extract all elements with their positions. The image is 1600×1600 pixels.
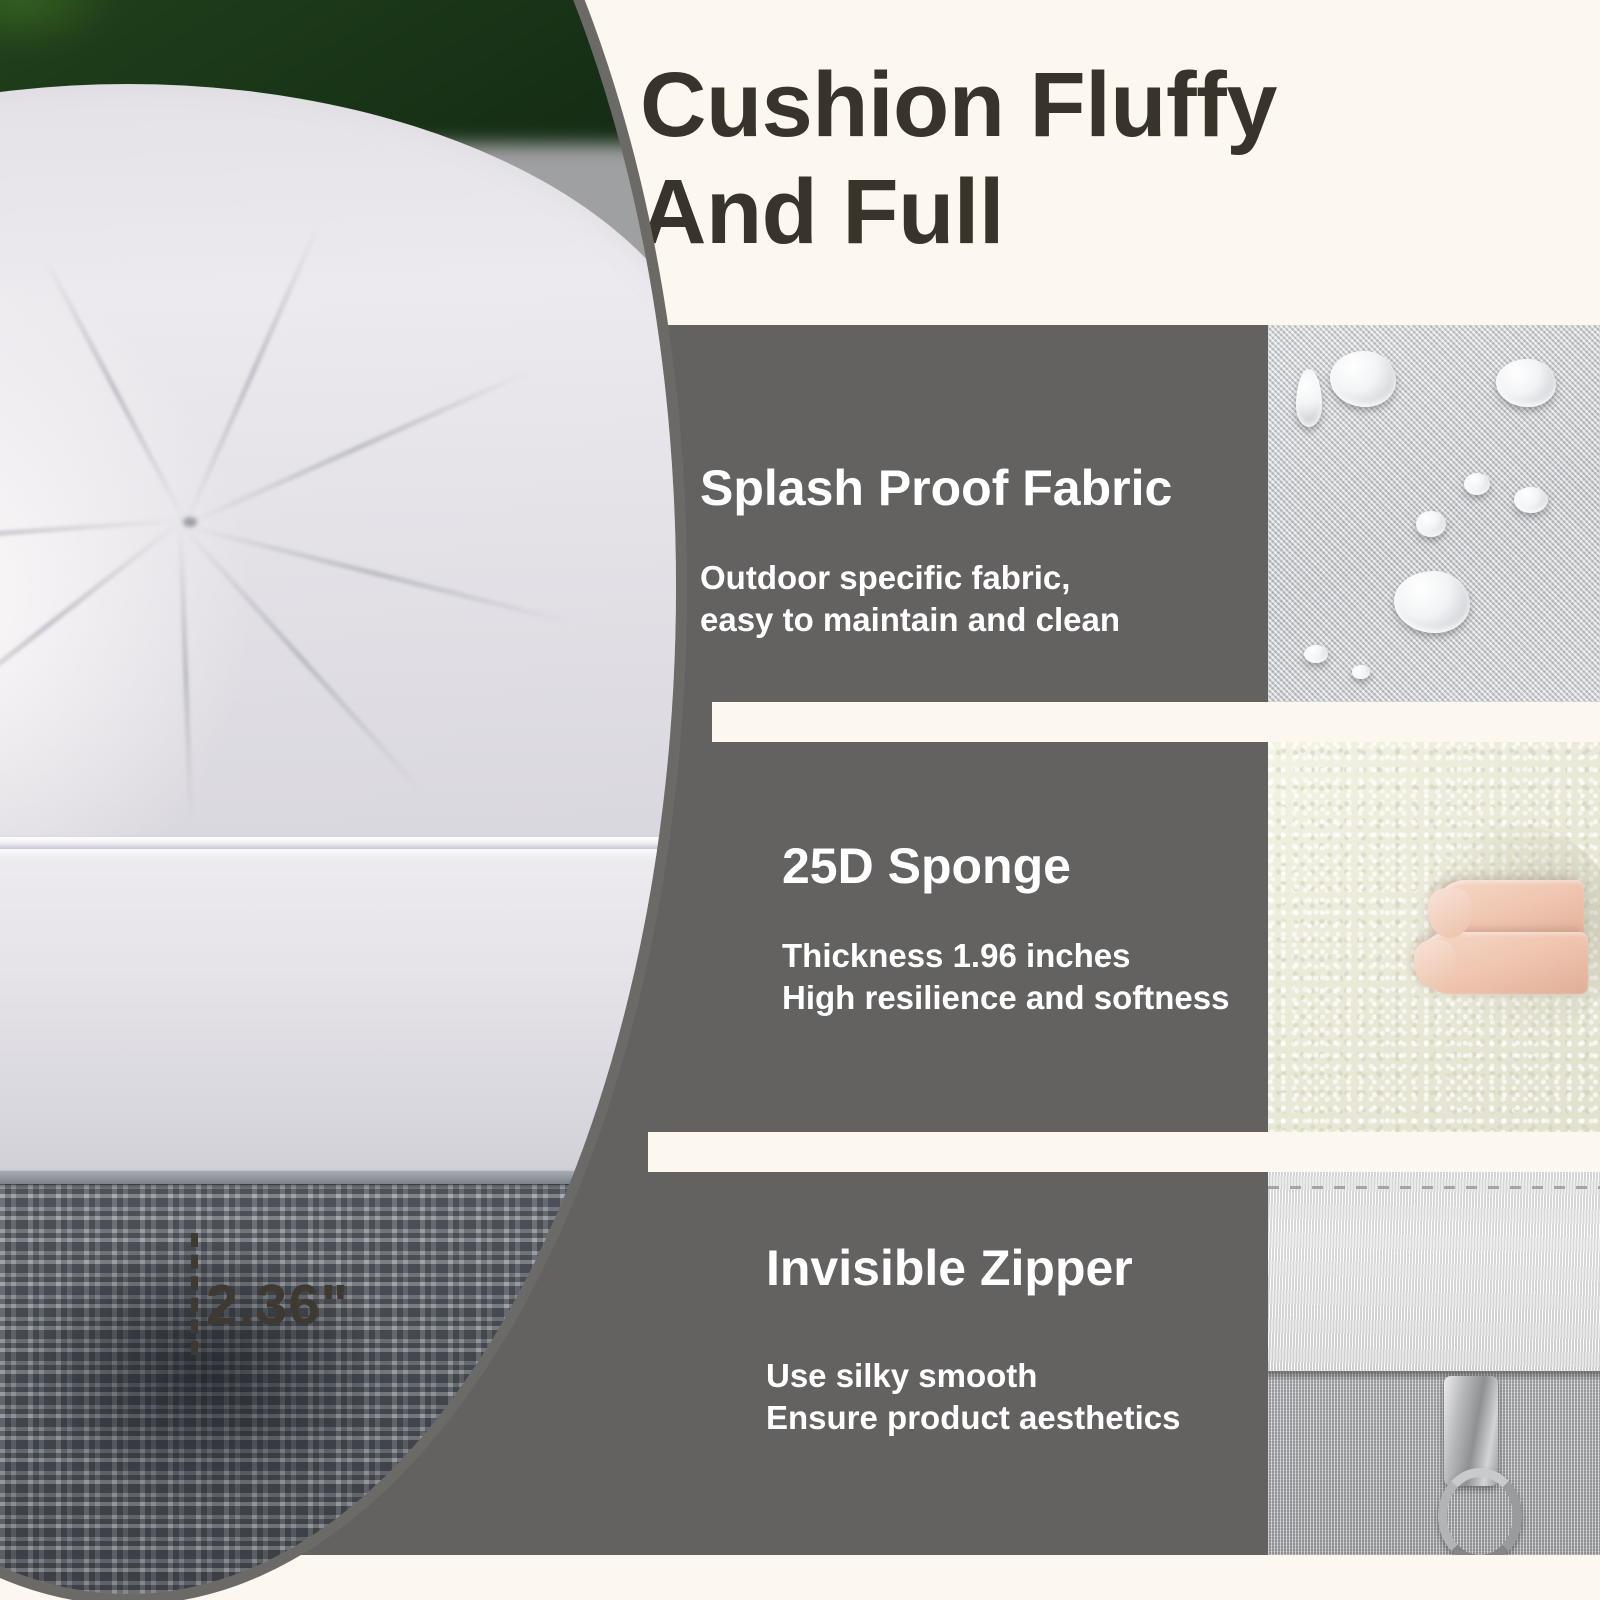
fabric-shadow-edge [1268, 1371, 1600, 1381]
stitch-line [1268, 1186, 1600, 1189]
feature-description-line-1: Use silky smooth [766, 1355, 1180, 1398]
water-droplet-icon [1304, 645, 1328, 663]
cushion-edge-fabric [1268, 1168, 1600, 1371]
infographic-canvas: Cushion Fluffy And Full Splash Proof Fab… [0, 0, 1600, 1600]
product-photo-circle [0, 0, 676, 1594]
water-droplet-icon [1464, 473, 1490, 495]
feature-description-line-1: Outdoor specific fabric, [700, 557, 1172, 600]
feature-block-splash-proof-fabric: Splash Proof Fabric Outdoor specific fab… [700, 462, 1172, 642]
feature-description-line-2: Ensure product aesthetics [766, 1397, 1180, 1440]
feature-image-splash-proof-fabric [1268, 325, 1600, 705]
product-photo [0, 0, 676, 1594]
dimension-line [191, 1233, 198, 1355]
water-droplet-icon [1330, 351, 1396, 407]
water-droplet-icon [1394, 571, 1470, 633]
water-droplet-icon [1514, 487, 1548, 513]
feature-block-invisible-zipper: Invisible Zipper Use silky smooth Ensure… [766, 1242, 1180, 1440]
wicker-top-rail [0, 1171, 676, 1184]
feature-title: 25D Sponge [782, 840, 1229, 893]
feature-description: Use silky smooth Ensure product aestheti… [766, 1355, 1180, 1441]
feature-image-25d-sponge [1268, 728, 1600, 1136]
title-line-2: And Full [640, 159, 1540, 266]
dimension-label: 2.36" [206, 1272, 349, 1338]
water-droplet-icon [1352, 665, 1370, 679]
feature-title: Invisible Zipper [766, 1242, 1180, 1295]
feature-description-line-1: Thickness 1.96 inches [782, 935, 1229, 978]
seat-cushion [0, 849, 676, 1191]
feature-image-invisible-zipper [1268, 1168, 1600, 1600]
water-droplet-icon [1496, 359, 1556, 407]
feature-title: Splash Proof Fabric [700, 462, 1172, 515]
feature-description: Outdoor specific fabric, easy to maintai… [700, 557, 1172, 643]
feature-description-line-2: easy to maintain and clean [700, 599, 1172, 642]
title-line-1: Cushion Fluffy [640, 54, 1277, 156]
section-divider-2 [648, 1132, 1600, 1172]
cushion-piping [0, 837, 676, 849]
section-divider-1 [712, 702, 1600, 742]
feature-block-25d-sponge: 25D Sponge Thickness 1.96 inches High re… [782, 840, 1229, 1020]
feature-description-line-2: High resilience and softness [782, 977, 1229, 1020]
feature-description: Thickness 1.96 inches High resilience an… [782, 935, 1229, 1021]
zipper-ring-icon [1438, 1468, 1522, 1564]
page-title: Cushion Fluffy And Full [640, 52, 1540, 265]
water-droplet-icon [1416, 511, 1446, 537]
